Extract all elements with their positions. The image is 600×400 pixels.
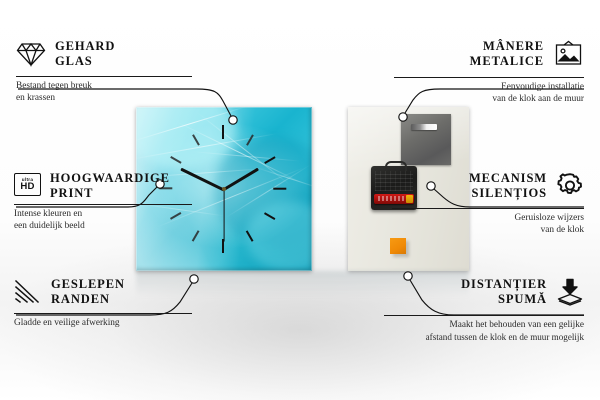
feature-desc-line1: Bestand tegen breuk xyxy=(16,81,206,93)
feature-mecanism-silentios: MECANISM SILENȚIOS Geruisloze wijzers va… xyxy=(392,170,584,236)
feature-desc-line2: van de klok xyxy=(392,225,584,237)
feature-rule xyxy=(394,77,584,78)
feature-rule xyxy=(392,208,584,209)
feature-title-line2: PRINT xyxy=(50,186,170,201)
feature-desc-line2: van de klok aan de muur xyxy=(394,94,584,106)
feature-rule xyxy=(14,204,192,205)
feature-distantier-spuma: DISTANȚIER SPUMĂ Maakt het behouden van … xyxy=(384,276,584,343)
feature-title-line2: GLAS xyxy=(55,54,115,69)
ultra-hd-icon-bottom-label: HD xyxy=(20,182,34,192)
feature-hoogwaardige-print: ultra HD HOOGWAARDIGE PRINT Intense kleu… xyxy=(14,170,214,232)
hanger-slot xyxy=(411,124,437,130)
feature-title-line1: HOOGWAARDIGE xyxy=(50,171,170,186)
feature-desc-line1: Geruisloze wijzers xyxy=(392,213,584,225)
metal-hanger-plate xyxy=(401,114,451,165)
foam-spacer xyxy=(390,238,406,254)
feature-title-line1: DISTANȚIER xyxy=(461,277,547,292)
feature-title-line2: SILENȚIOS xyxy=(469,186,547,201)
feature-rule xyxy=(16,76,192,77)
feature-geslepen-randen: GESLEPEN RANDEN Gladde en veilige afwerk… xyxy=(14,276,214,330)
infographic-canvas: GEHARD GLAS Bestand tegen breuk en krass… xyxy=(0,0,600,400)
feature-desc-line1: Maakt het behouden van een gelijke xyxy=(384,320,584,332)
feature-title-line2: METALICE xyxy=(470,54,544,69)
gear-icon xyxy=(556,172,584,204)
feature-desc-line2: en krassen xyxy=(16,93,206,105)
foam-spacer-icon xyxy=(556,278,584,311)
feature-desc-line1: Gladde en veilige afwerking xyxy=(14,318,214,330)
feature-desc-line1: Eenvoudige installatie xyxy=(394,82,584,94)
feature-title-line2: RANDEN xyxy=(51,292,125,307)
feature-title-line1: GEHARD xyxy=(55,39,115,54)
picture-frame-icon xyxy=(553,40,584,73)
feature-title-line1: MÂNERE xyxy=(470,39,544,54)
feature-title-line2: SPUMĂ xyxy=(461,292,547,307)
beveled-edge-icon xyxy=(14,279,42,309)
diamond-icon xyxy=(16,41,46,72)
ultra-hd-icon: ultra HD xyxy=(14,173,41,196)
feature-desc-line2: een duidelijk beeld xyxy=(14,221,214,233)
feature-rule xyxy=(14,313,192,314)
feature-manere-metalice: MÂNERE METALICE Eenvoudige installatie v… xyxy=(394,38,584,105)
feature-rule xyxy=(384,315,584,316)
feature-gehard-glas: GEHARD GLAS Bestand tegen breuk en krass… xyxy=(16,38,206,104)
feature-title-line1: GESLEPEN xyxy=(51,277,125,292)
feature-desc-line2: afstand tussen de klok en de muur mogeli… xyxy=(384,332,584,344)
feature-title-line1: MECANISM xyxy=(469,171,547,186)
feature-desc-line1: Intense kleuren en xyxy=(14,209,214,221)
